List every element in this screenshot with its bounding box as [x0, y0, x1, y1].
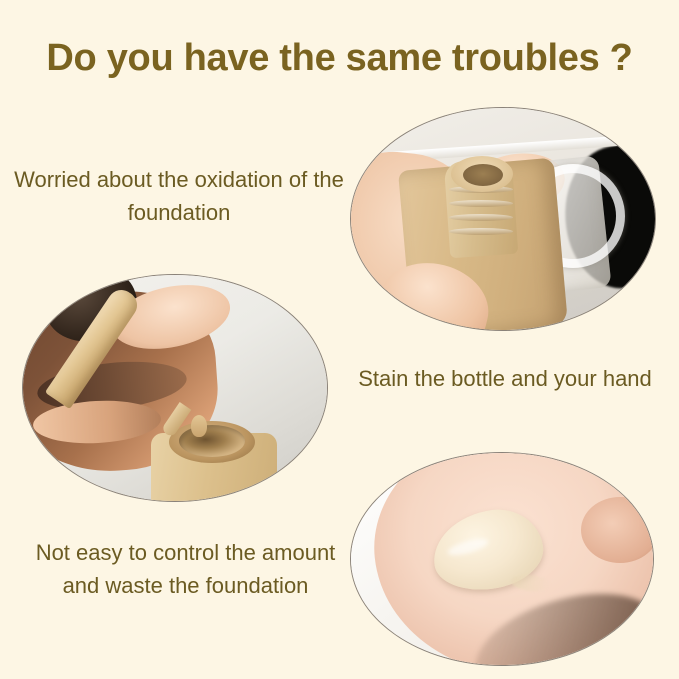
neck-thread: [449, 228, 513, 235]
foundation-bottle-neck-photo: [350, 107, 656, 331]
neck-thread: [449, 214, 513, 221]
knuckle-shape: [581, 497, 654, 563]
promo-graphic: Do you have the same troubles ? Worried …: [0, 0, 679, 679]
neck-thread: [449, 200, 513, 207]
dropper-scene: [23, 275, 327, 501]
foundation-swirl-shape: [179, 425, 245, 457]
caption-oxidation: Worried about the oxidation of the found…: [8, 163, 350, 229]
swatch-scene: [351, 453, 653, 665]
foundation-drip-shape: [191, 415, 207, 437]
foundation-swatch-photo: [350, 452, 654, 666]
page-title: Do you have the same troubles ?: [0, 34, 679, 82]
bottle-neck-scene: [351, 108, 655, 330]
caption-stain: Stain the bottle and your hand: [355, 362, 655, 395]
caption-waste: Not easy to control the amount and waste…: [18, 536, 353, 602]
neck-opening-shape: [463, 164, 503, 186]
foundation-dropper-photo: [22, 274, 328, 502]
